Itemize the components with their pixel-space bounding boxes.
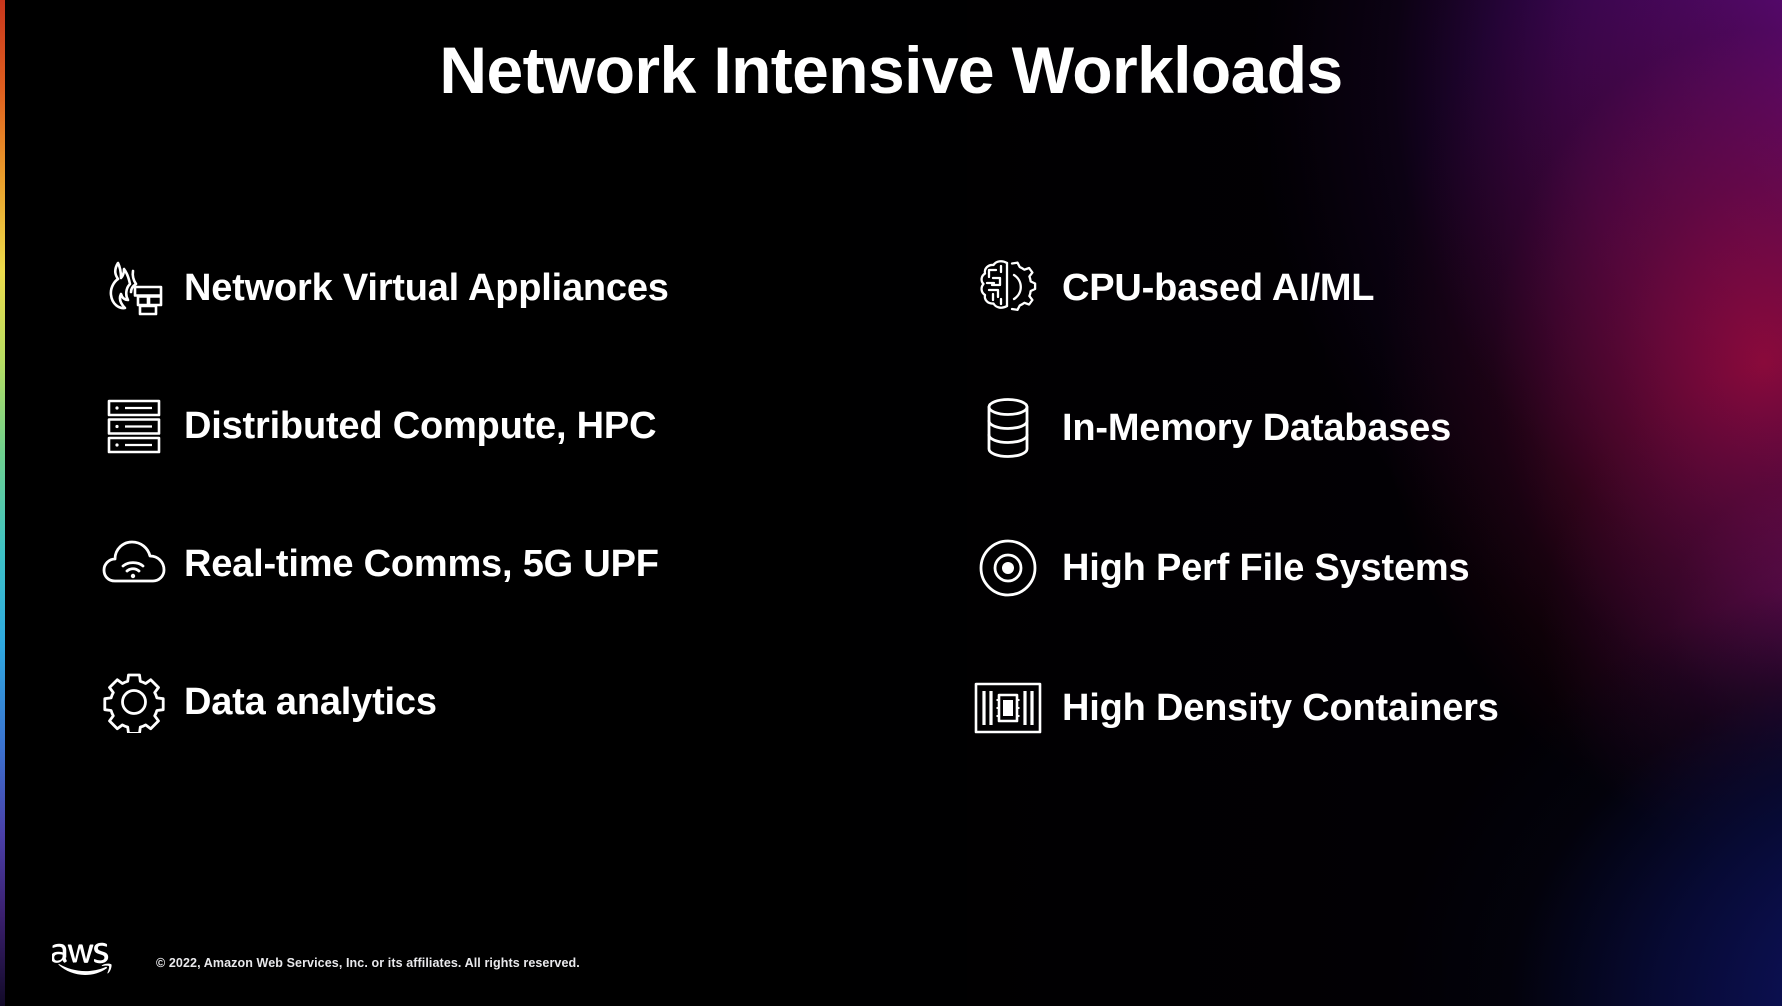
- list-item: Distributed Compute, HPC: [96, 386, 856, 466]
- firewall-icon: [96, 252, 172, 324]
- list-item-label: High Density Containers: [1062, 687, 1499, 730]
- database-icon: [970, 392, 1046, 464]
- list-item-label: Distributed Compute, HPC: [184, 405, 656, 448]
- slide-canvas: Network Intensive Workloads Network Virt…: [0, 0, 1782, 1006]
- page-title: Network Intensive Workloads: [0, 34, 1782, 107]
- brain-gear-icon: [970, 252, 1046, 324]
- list-item-label: CPU-based AI/ML: [1062, 267, 1374, 310]
- cloud-wifi-icon: [96, 528, 172, 600]
- list-item-label: Network Virtual Appliances: [184, 267, 669, 310]
- list-item: Network Virtual Appliances: [96, 248, 856, 328]
- list-item-label: Data analytics: [184, 681, 437, 724]
- list-item: In-Memory Databases: [970, 388, 1730, 468]
- gear-icon: [96, 666, 172, 738]
- chip-container-icon: [970, 672, 1046, 744]
- list-item-label: Real-time Comms, 5G UPF: [184, 543, 659, 586]
- disc-icon: [970, 532, 1046, 604]
- footer: © 2022, Amazon Web Services, Inc. or its…: [52, 936, 580, 980]
- list-item: High Density Containers: [970, 668, 1730, 748]
- list-item-label: In-Memory Databases: [1062, 407, 1451, 450]
- copyright-text: © 2022, Amazon Web Services, Inc. or its…: [156, 956, 580, 970]
- aws-logo: [52, 936, 114, 980]
- list-item: Real-time Comms, 5G UPF: [96, 524, 856, 604]
- list-item: CPU-based AI/ML: [970, 248, 1730, 328]
- list-item: Data analytics: [96, 662, 856, 742]
- rainbow-edge-strip: [0, 0, 5, 1006]
- right-column: CPU-based AI/ML In-Memory Databases: [970, 248, 1730, 808]
- server-rack-icon: [96, 390, 172, 462]
- list-item: High Perf File Systems: [970, 528, 1730, 608]
- list-item-label: High Perf File Systems: [1062, 547, 1469, 590]
- left-column: Network Virtual Appliances Distributed C…: [96, 248, 856, 800]
